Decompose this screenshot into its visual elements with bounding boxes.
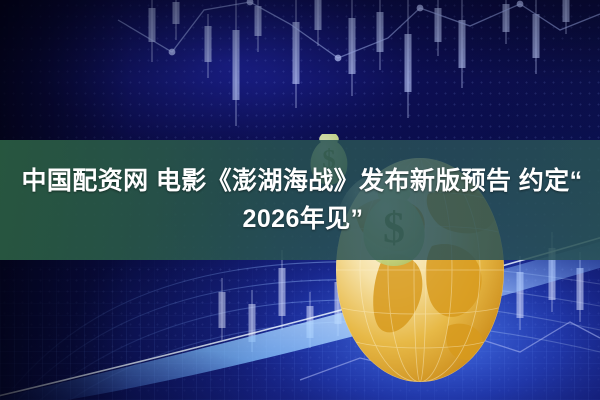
caption-line-2: 2026年见” <box>237 200 364 238</box>
caption-line-1: 中国配资网 电影《澎湖海战》发布新版预告 约定“ <box>18 162 583 200</box>
caption-band: 中国配资网 电影《澎湖海战》发布新版预告 约定“ 2026年见” <box>0 140 600 260</box>
news-banner: $ $ 中国配资网 电影《澎湖海战》发布新版预告 约定“ 2026年见” <box>0 0 600 400</box>
